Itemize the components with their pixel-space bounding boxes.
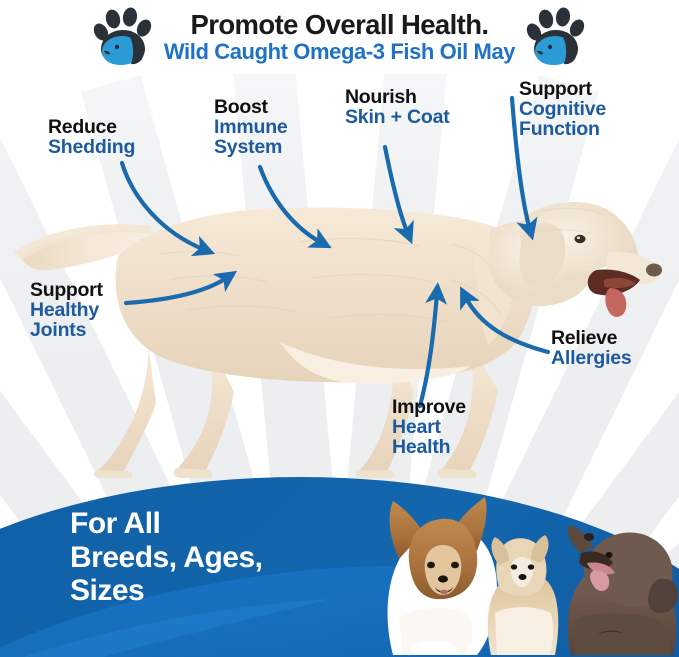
benefit-relieve-allergies: Relieve Allergies [551,329,632,369]
three-dogs-photo [359,467,679,657]
page-title: Promote Overall Health. [164,11,515,39]
title-block: Promote Overall Health. Wild Caught Omeg… [164,11,515,64]
chocolate-labrador-dog [568,525,678,655]
benefit-blue-text: Shedding [48,138,135,158]
benefit-nourish-skin-coat: Nourish Skin + Coat [345,88,450,128]
banner-headline: For All Breeds, Ages, Sizes [70,507,262,608]
page-subtitle: Wild Caught Omega-3 Fish Oil May [164,41,515,63]
benefit-bold-word: Improve [392,398,466,418]
benefit-reduce-shedding: Reduce Shedding [48,118,135,158]
benefit-bold-word: Support [519,80,606,100]
benefit-support-healthy-joints: Support Healthy Joints [30,281,103,341]
benefit-bold-word: Nourish [345,88,450,108]
benefit-blue-text: Skin + Coat [345,108,450,128]
benefit-boost-immune-system: Boost Immune System [214,98,288,158]
header-bar: Promote Overall Health. Wild Caught Omeg… [0,0,679,74]
benefit-bold-word: Relieve [551,329,632,349]
benefit-blue-text: Immune System [214,118,288,158]
benefit-bold-word: Boost [214,98,288,118]
product-infographic: Promote Overall Health. Wild Caught Omeg… [0,0,679,657]
benefit-bold-word: Support [30,281,103,301]
small-terrier-dog [488,535,559,655]
paw-print-dog-logo-right [525,6,587,68]
benefit-blue-text: Cognitive Function [519,100,606,140]
benefit-blue-text: Healthy Joints [30,301,103,341]
paw-print-dog-logo-left [92,6,154,68]
sheltie-dog [388,497,497,655]
benefit-blue-text: Heart Health [392,418,466,458]
benefit-bold-word: Reduce [48,118,135,138]
benefit-support-cognitive-function: Support Cognitive Function [519,80,606,140]
benefit-improve-heart-health: Improve Heart Health [392,398,466,458]
bottom-banner: For All Breeds, Ages, Sizes [0,467,679,657]
benefit-blue-text: Allergies [551,349,632,369]
